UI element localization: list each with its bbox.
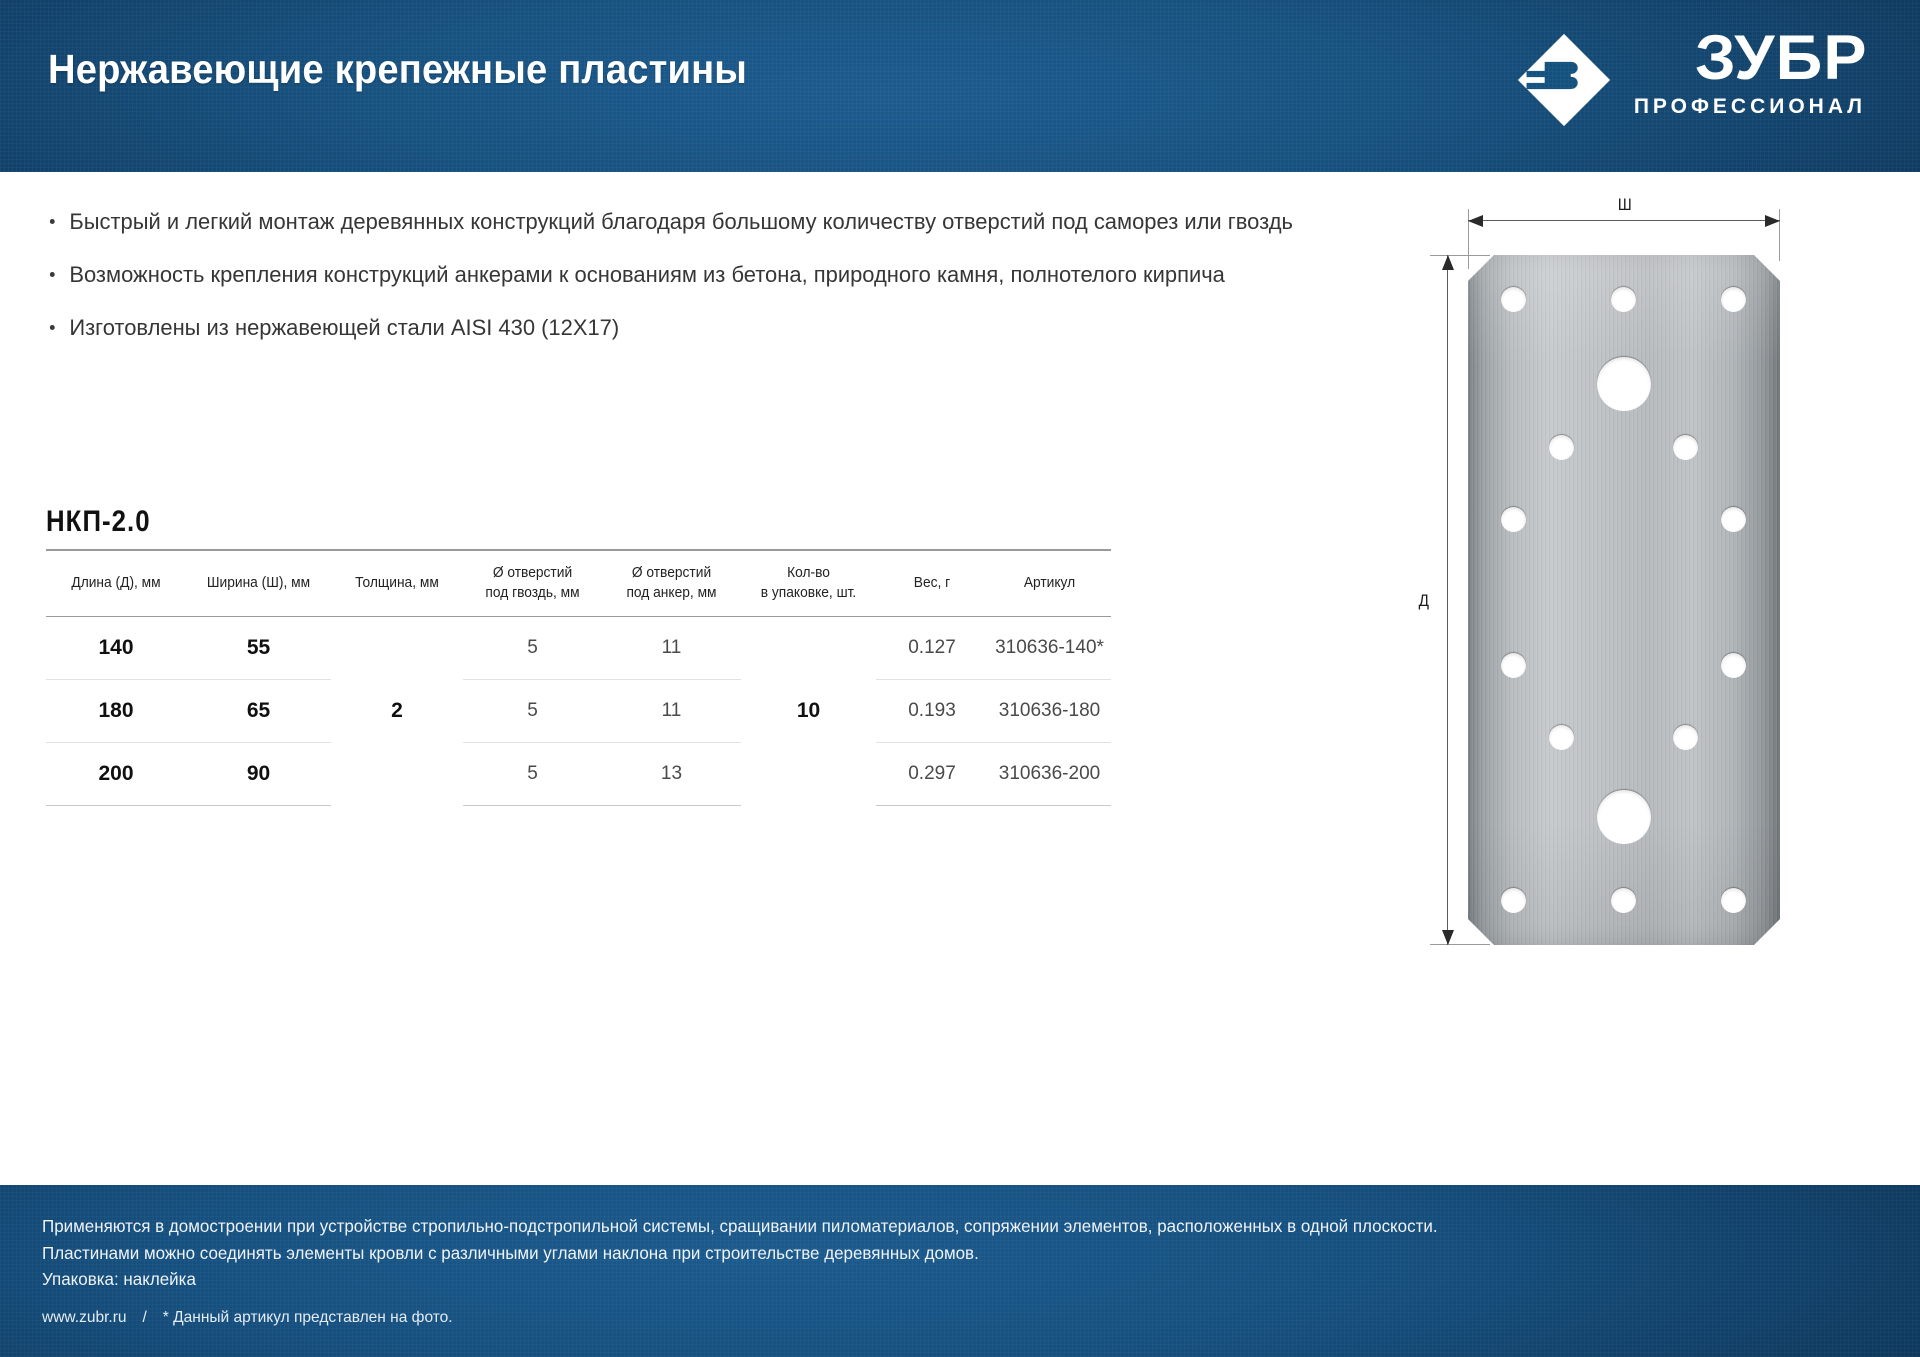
width-arrow-right-icon bbox=[1765, 215, 1780, 227]
anchor-hole bbox=[1597, 790, 1651, 844]
nail-hole bbox=[1501, 653, 1526, 678]
bullet-dot-icon bbox=[50, 325, 55, 330]
feature-list: Быстрый и легкий монтаж деревянных конст… bbox=[44, 208, 1164, 367]
brand-logo: ЗУБР ПРОФЕССИОНАЛ bbox=[1516, 28, 1868, 128]
extension-line-side-bot bbox=[1430, 944, 1490, 945]
nail-hole bbox=[1501, 507, 1526, 532]
cell-pack-qty-merged: 10 bbox=[741, 617, 876, 806]
bison-diamond-icon bbox=[1516, 32, 1612, 128]
footer-meta: www.zubr.ru / * Данный артикул представл… bbox=[42, 1309, 1438, 1327]
footer-text-line: Упаковка: наклейка bbox=[42, 1266, 1438, 1293]
nail-hole bbox=[1549, 435, 1574, 460]
table-header-row: Длина (Д), мм Ширина (Ш), мм Толщина, мм… bbox=[46, 550, 1111, 617]
cell-width: 65 bbox=[186, 680, 331, 743]
nail-hole bbox=[1721, 507, 1746, 532]
length-dimension-line bbox=[1447, 255, 1448, 945]
footnote-text: * Данный артикул представлен на фото. bbox=[163, 1309, 453, 1326]
logo-wordmark: ЗУБР bbox=[1695, 28, 1868, 88]
feature-text: Изготовлены из нержавеющей стали AISI 43… bbox=[69, 315, 619, 340]
cell-article: 310636-180 bbox=[988, 680, 1111, 743]
column-header-anchor-hole: Ø отверстий под анкер, мм bbox=[605, 550, 737, 617]
cell-article: 310636-140* bbox=[988, 617, 1111, 680]
cell-anchor-hole: 13 bbox=[602, 743, 741, 806]
cell-thickness-merged: 2 bbox=[331, 617, 463, 806]
width-dimension-label: Ш bbox=[1618, 195, 1632, 215]
footer-text-line: Применяются в домостроении при устройств… bbox=[42, 1213, 1438, 1240]
length-arrow-up-icon bbox=[1442, 255, 1454, 270]
cell-weight: 0.193 bbox=[876, 680, 988, 743]
footer-content: Применяются в домостроении при устройств… bbox=[42, 1213, 1481, 1327]
table-row: 200 90 5 13 0.297 310636-200 bbox=[46, 743, 1111, 806]
feature-text: Возможность крепления конструкций анкера… bbox=[69, 262, 1225, 287]
cell-weight: 0.127 bbox=[876, 617, 988, 680]
table-row: 140 55 2 5 11 10 0.127 310636-140* bbox=[46, 617, 1111, 680]
specification-table: Длина (Д), мм Ширина (Ш), мм Толщина, мм… bbox=[46, 549, 1111, 806]
nail-hole bbox=[1501, 287, 1526, 312]
cell-length: 140 bbox=[46, 617, 186, 680]
feature-text: Быстрый и легкий монтаж деревянных конст… bbox=[69, 209, 1293, 234]
page-title: Нержавеющие крепежные пластины bbox=[48, 46, 747, 93]
nail-hole bbox=[1501, 888, 1526, 913]
anchor-hole bbox=[1597, 357, 1651, 411]
width-dimension-line bbox=[1468, 220, 1780, 221]
nail-hole bbox=[1611, 888, 1636, 913]
cell-length: 200 bbox=[46, 743, 186, 806]
list-item: Изготовлены из нержавеющей стали AISI 43… bbox=[44, 314, 1136, 342]
column-header-width: Ширина (Ш), мм bbox=[190, 550, 328, 617]
page-footer: Применяются в домостроении при устройств… bbox=[0, 1185, 1920, 1357]
cell-width: 90 bbox=[186, 743, 331, 806]
length-arrow-down-icon bbox=[1442, 930, 1454, 945]
list-item: Возможность крепления конструкций анкера… bbox=[44, 261, 1136, 289]
nail-hole bbox=[1721, 287, 1746, 312]
extension-line-side-top bbox=[1430, 255, 1490, 256]
logo-text-block: ЗУБР ПРОФЕССИОНАЛ bbox=[1634, 28, 1868, 119]
column-header-article: Артикул bbox=[991, 550, 1108, 617]
product-illustration: Ш Д bbox=[1130, 195, 1890, 985]
column-header-thickness: Толщина, мм bbox=[334, 550, 459, 617]
width-arrow-left-icon bbox=[1468, 215, 1483, 227]
list-item: Быстрый и легкий монтаж деревянных конст… bbox=[44, 208, 1136, 236]
nail-hole bbox=[1721, 888, 1746, 913]
bullet-dot-icon bbox=[50, 219, 55, 224]
logo-tagline: ПРОФЕССИОНАЛ bbox=[1634, 95, 1866, 119]
column-header-pack-qty: Кол-во в упаковке, шт. bbox=[744, 550, 872, 617]
footer-text-line: Пластинами можно соединять элементы кров… bbox=[42, 1240, 1438, 1267]
cell-anchor-hole: 11 bbox=[602, 680, 741, 743]
column-header-nail-hole: Ø отверстий под гвоздь, мм bbox=[466, 550, 598, 617]
cell-nail-hole: 5 bbox=[463, 680, 602, 743]
cell-nail-hole: 5 bbox=[463, 743, 602, 806]
page-header: Нержавеющие крепежные пластины ЗУБР ПРОФ… bbox=[0, 0, 1920, 172]
cell-anchor-hole: 11 bbox=[602, 617, 741, 680]
bullet-dot-icon bbox=[50, 272, 55, 277]
column-header-weight: Вес, г bbox=[879, 550, 985, 617]
table-row: 180 65 5 11 0.193 310636-180 bbox=[46, 680, 1111, 743]
column-header-length: Длина (Д), мм bbox=[50, 550, 183, 617]
specification-table-block: НКП-2.0 Длина (Д), мм Ширина (Ш), мм Тол… bbox=[46, 505, 1111, 806]
cell-length: 180 bbox=[46, 680, 186, 743]
nail-hole bbox=[1611, 287, 1636, 312]
nail-hole bbox=[1673, 725, 1698, 750]
cell-nail-hole: 5 bbox=[463, 617, 602, 680]
mounting-plate-photo bbox=[1468, 255, 1780, 945]
cell-width: 55 bbox=[186, 617, 331, 680]
nail-hole bbox=[1549, 725, 1574, 750]
model-name: НКП-2.0 bbox=[46, 505, 962, 539]
product-spec-sheet: Нержавеющие крепежные пластины ЗУБР ПРОФ… bbox=[0, 0, 1920, 1357]
cell-weight: 0.297 bbox=[876, 743, 988, 806]
cell-article: 310636-200 bbox=[988, 743, 1111, 806]
length-dimension-label: Д bbox=[1419, 591, 1429, 611]
nail-hole bbox=[1673, 435, 1698, 460]
footer-separator: / bbox=[142, 1309, 146, 1326]
website-link[interactable]: www.zubr.ru bbox=[42, 1309, 127, 1326]
nail-hole bbox=[1721, 653, 1746, 678]
